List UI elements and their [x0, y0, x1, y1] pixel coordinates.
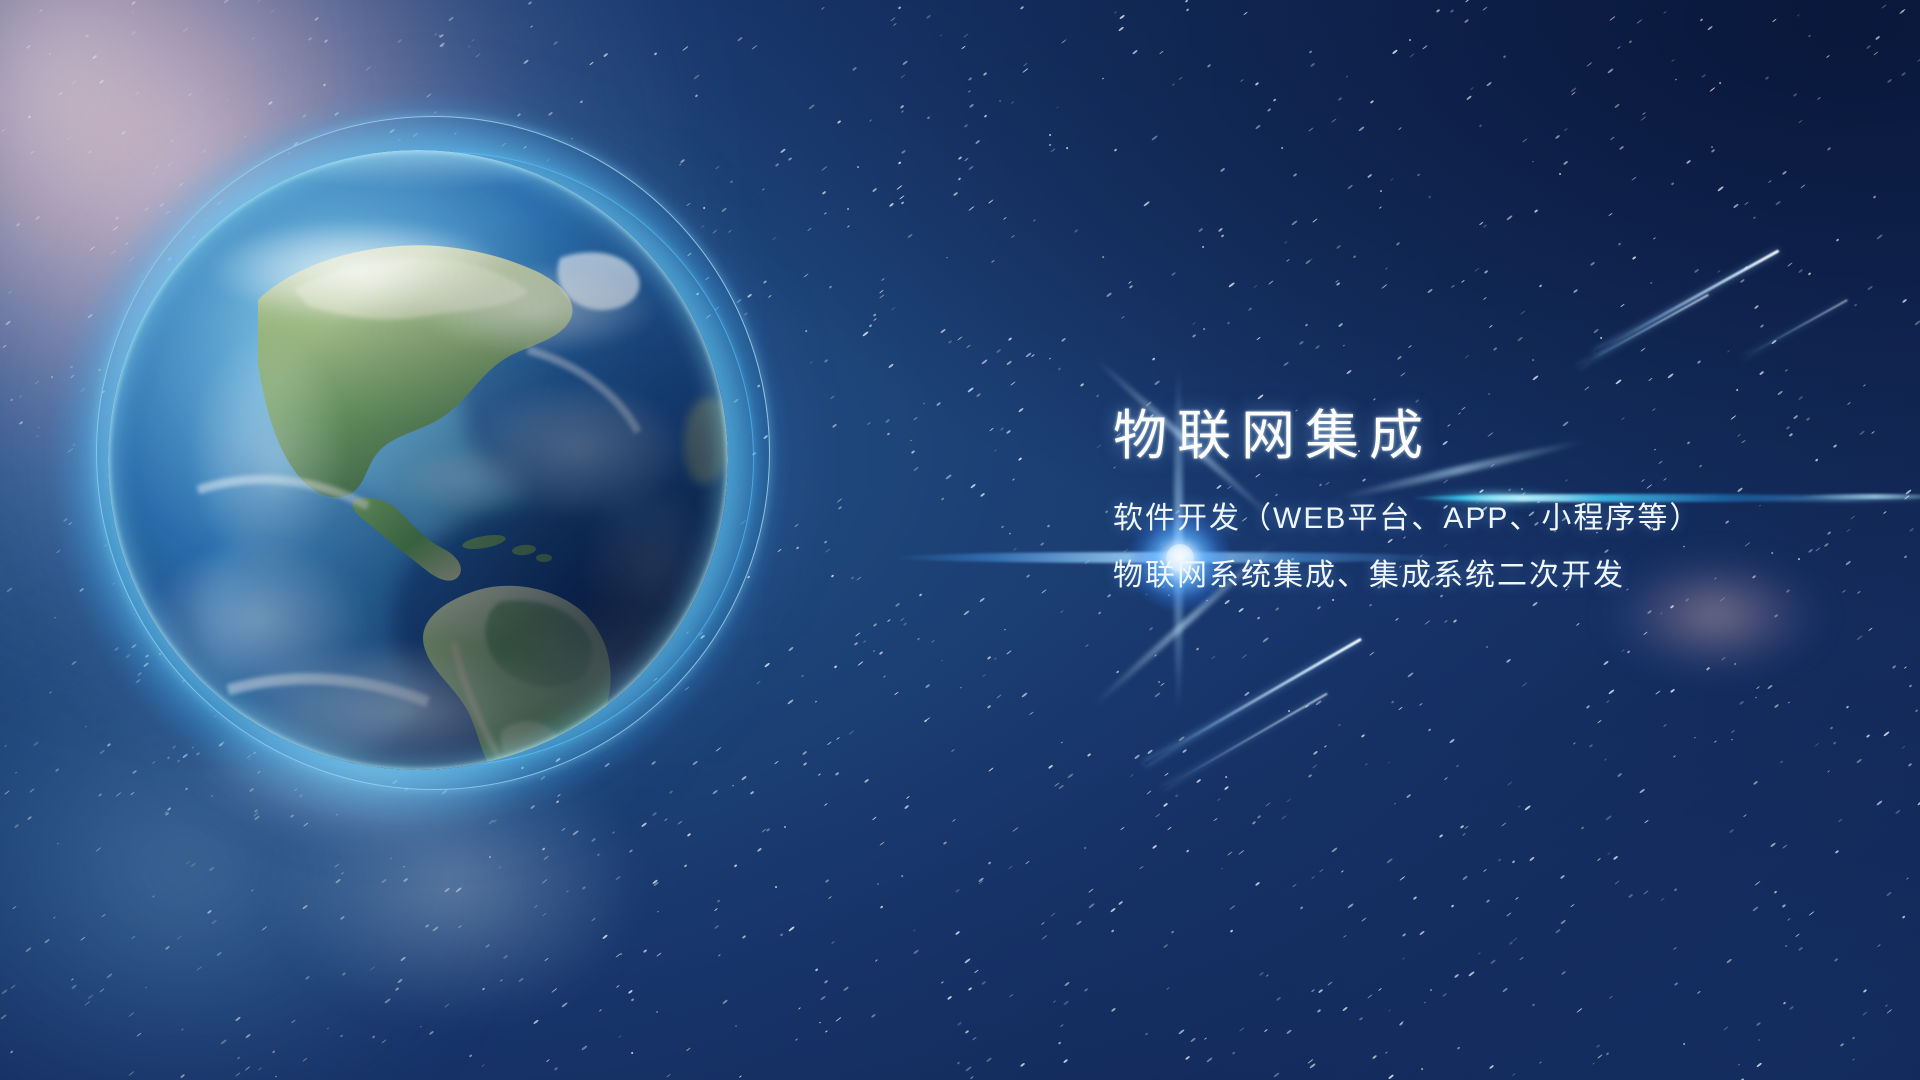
subtitle-line-1: 软件开发（WEB平台、APP、小程序等） — [1113, 495, 1853, 544]
page-title: 物联网集成 — [1113, 408, 1853, 465]
earth-globe — [108, 150, 728, 770]
globe-sphere — [108, 150, 728, 770]
globe-limb-glow — [108, 150, 728, 770]
banner-text-block: 物联网集成 软件开发（WEB平台、APP、小程序等） 物联网系统集成、集成系统二… — [1113, 408, 1853, 600]
hero-banner: 物联网集成 软件开发（WEB平台、APP、小程序等） 物联网系统集成、集成系统二… — [0, 0, 1920, 1080]
subtitle-line-2: 物联网系统集成、集成系统二次开发 — [1113, 552, 1853, 601]
banner-subtitle: 软件开发（WEB平台、APP、小程序等） 物联网系统集成、集成系统二次开发 — [1113, 495, 1853, 600]
